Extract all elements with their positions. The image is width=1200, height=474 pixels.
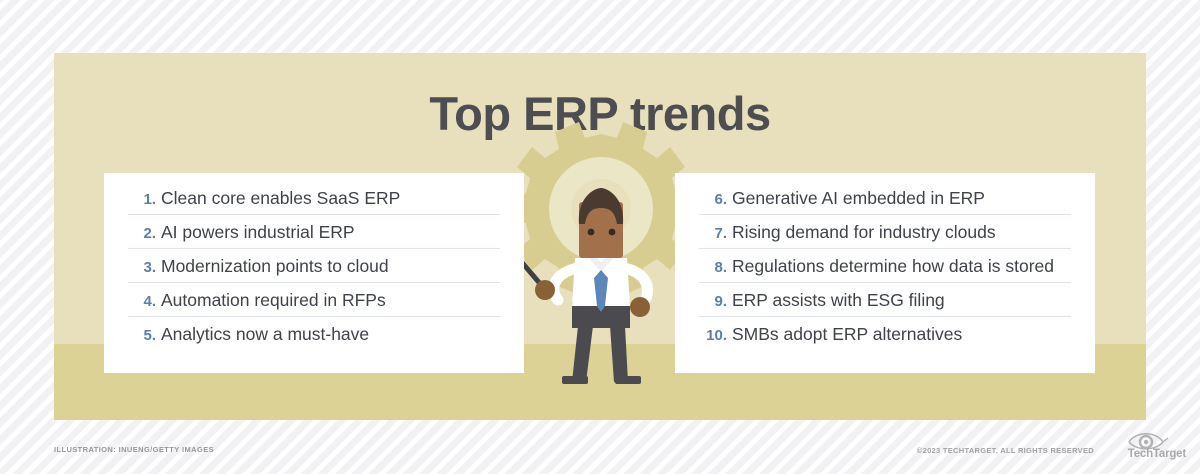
list-item[interactable]: 9. ERP assists with ESG filing (675, 283, 1095, 317)
list-item-number: 7. (701, 217, 727, 251)
list-item-number: 8. (701, 251, 727, 285)
businessman-with-pointer-illustration (516, 120, 686, 420)
list-item-number: 6. (701, 183, 727, 217)
trends-list-right: 6. Generative AI embedded in ERP 7. Risi… (675, 173, 1095, 373)
list-item-number: 2. (130, 217, 156, 251)
list-item[interactable]: 8. Regulations determine how data is sto… (675, 249, 1095, 283)
list-item-number: 1. (130, 183, 156, 217)
left-eye (588, 229, 595, 236)
list-item-number: 3. (130, 251, 156, 285)
list-item[interactable]: 3. Modernization points to cloud (104, 249, 524, 283)
list-item-number: 10. (701, 319, 727, 353)
right-hand (630, 297, 650, 317)
list-item-label: Rising demand for industry clouds (732, 215, 996, 249)
list-item-label: Analytics now a must-have (161, 317, 369, 351)
list-item[interactable]: 6. Generative AI embedded in ERP (675, 181, 1095, 215)
list-item-label: Generative AI embedded in ERP (732, 181, 985, 215)
copyright-notice: ©2023 TECHTARGET. ALL RIGHTS RESERVED (917, 446, 1094, 455)
legs (562, 302, 641, 384)
illustration-credit: ILLUSTRATION: INUENG/GETTY IMAGES (54, 445, 214, 454)
list-item-label: AI powers industrial ERP (161, 215, 355, 249)
list-item-number: 5. (130, 319, 156, 353)
list-item[interactable]: 2. AI powers industrial ERP (104, 215, 524, 249)
list-item-label: Modernization points to cloud (161, 249, 389, 283)
list-item-label: Clean core enables SaaS ERP (161, 181, 400, 215)
list-item[interactable]: 4. Automation required in RFPs (104, 283, 524, 317)
trends-list-left: 1. Clean core enables SaaS ERP 2. AI pow… (104, 173, 524, 373)
left-hand (535, 280, 555, 300)
list-item-label: Regulations determine how data is stored (732, 249, 1054, 283)
head (579, 188, 623, 258)
list-item-number: 4. (130, 285, 156, 319)
list-item-label: Automation required in RFPs (161, 283, 386, 317)
list-item-label: ERP assists with ESG filing (732, 283, 945, 317)
techtarget-wordmark: TechTarget (1128, 448, 1186, 460)
list-item[interactable]: 5. Analytics now a must-have (104, 317, 524, 351)
list-item[interactable]: 1. Clean core enables SaaS ERP (104, 181, 524, 215)
list-item-label: SMBs adopt ERP alternatives (732, 317, 962, 351)
list-item[interactable]: 10. SMBs adopt ERP alternatives (675, 317, 1095, 351)
right-eye (609, 229, 616, 236)
list-item-number: 9. (701, 285, 727, 319)
infographic-card: Top ERP trends (54, 53, 1146, 420)
list-item[interactable]: 7. Rising demand for industry clouds (675, 215, 1095, 249)
